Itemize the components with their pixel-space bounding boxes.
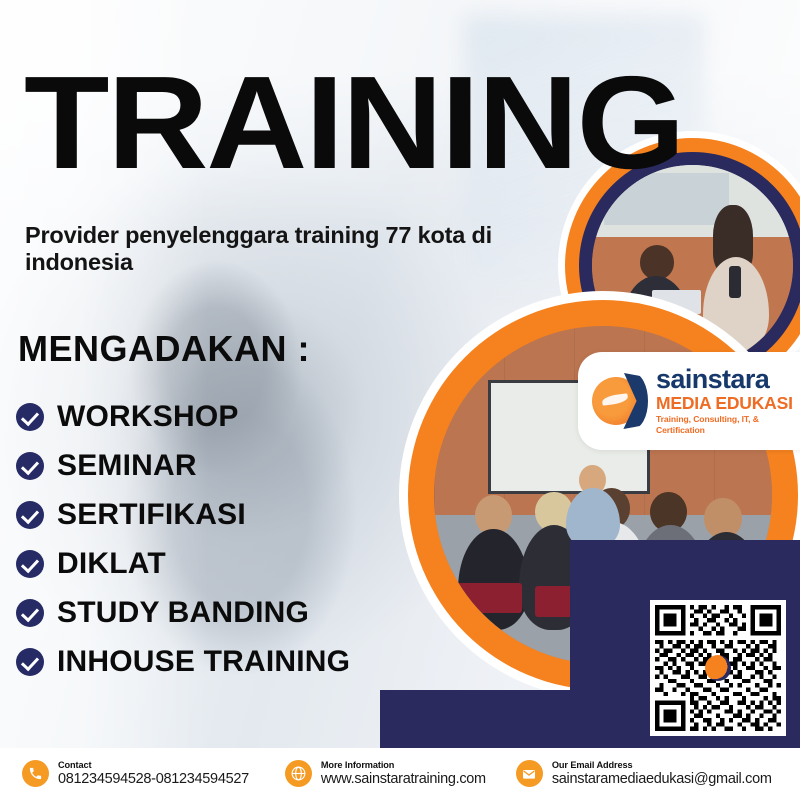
list-item: INHOUSE TRAINING	[16, 637, 350, 686]
footer-website-block[interactable]: More Information www.sainstaratraining.c…	[285, 760, 486, 789]
footer-website-label: More Information	[321, 760, 486, 772]
check-circle-icon	[16, 403, 44, 431]
check-circle-icon	[16, 452, 44, 480]
footer-email-label: Our Email Address	[552, 760, 772, 772]
footer-contact-block[interactable]: Contact 081234594528-081234594527	[22, 760, 249, 789]
service-label: STUDY BANDING	[57, 596, 309, 630]
list-item: DIKLAT	[16, 539, 350, 588]
footer-contact-text: Contact 081234594528-081234594527	[58, 760, 249, 789]
footer-contact-label: Contact	[58, 760, 249, 772]
phone-icon	[22, 760, 49, 787]
contact-footer: Contact 081234594528-081234594527 More I…	[0, 748, 800, 800]
list-item: STUDY BANDING	[16, 588, 350, 637]
service-label: INHOUSE TRAINING	[57, 645, 350, 679]
logo-name: sainstara	[656, 366, 800, 393]
page-title: TRAINING	[24, 66, 683, 180]
footer-email-value: sainstaramediaedukasi@gmail.com	[552, 771, 772, 788]
logo-text-block: sainstara MEDIA EDUKASI Training, Consul…	[656, 366, 800, 436]
list-item: WORKSHOP	[16, 392, 350, 441]
brand-logo: sainstara MEDIA EDUKASI Training, Consul…	[578, 352, 800, 450]
footer-website-text: More Information www.sainstaratraining.c…	[321, 760, 486, 789]
footer-email-block[interactable]: Our Email Address sainstaramediaedukasi@…	[516, 760, 772, 789]
list-item: SEMINAR	[16, 441, 350, 490]
qr-code[interactable]	[650, 600, 786, 736]
sainstara-logo-icon	[590, 371, 650, 431]
check-circle-icon	[16, 550, 44, 578]
service-label: SEMINAR	[57, 449, 197, 483]
check-circle-icon	[16, 501, 44, 529]
qr-code-pattern	[655, 605, 781, 731]
envelope-icon	[516, 760, 543, 787]
check-circle-icon	[16, 648, 44, 676]
qr-center-logo-icon	[705, 655, 731, 681]
logo-subtitle: MEDIA EDUKASI	[656, 393, 800, 413]
training-poster: TRAINING Provider penyelenggara training…	[0, 0, 800, 800]
list-item: SERTIFIKASI	[16, 490, 350, 539]
services-checklist: WORKSHOP SEMINAR SERTIFIKASI DIKLAT STUD…	[16, 392, 350, 686]
service-label: DIKLAT	[57, 547, 166, 581]
check-circle-icon	[16, 599, 44, 627]
service-label: SERTIFIKASI	[57, 498, 246, 532]
footer-website-value: www.sainstaratraining.com	[321, 771, 486, 788]
globe-icon	[285, 760, 312, 787]
section-heading: MENGADAKAN :	[18, 328, 310, 370]
logo-tagline: Training, Consulting, IT, & Certificatio…	[656, 414, 800, 436]
footer-email-text: Our Email Address sainstaramediaedukasi@…	[552, 760, 772, 789]
poster-subtitle: Provider penyelenggara training 77 kota …	[25, 222, 525, 277]
footer-contact-value: 081234594528-081234594527	[58, 771, 249, 788]
service-label: WORKSHOP	[57, 400, 239, 434]
